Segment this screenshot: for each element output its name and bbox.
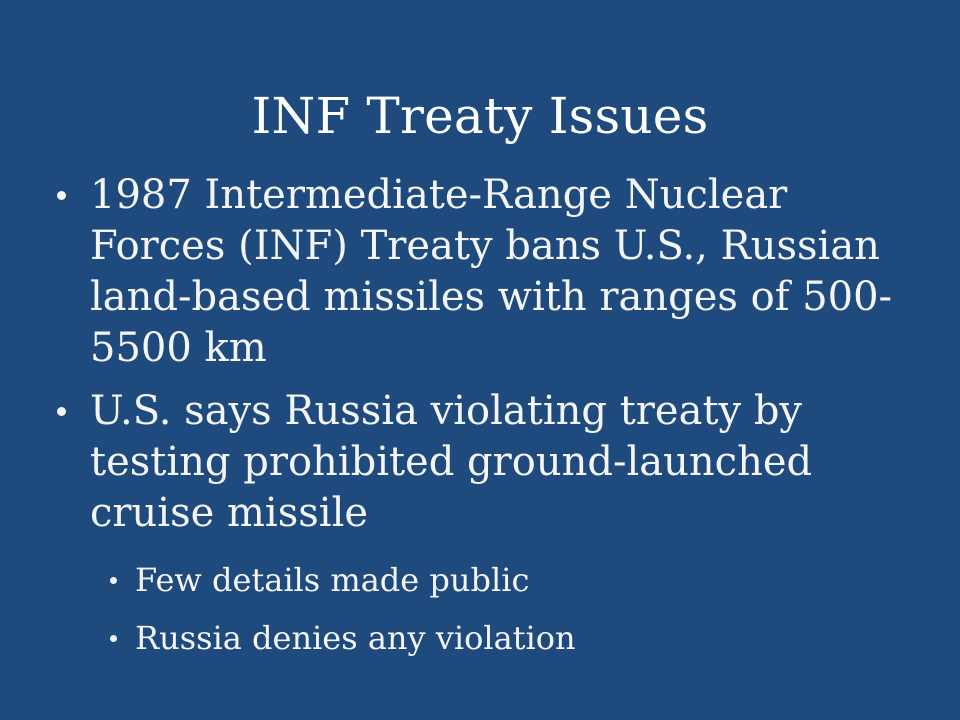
bullet-dot-icon [110,635,117,642]
sub-bullet-group: Few details made public Russia denies an… [40,559,930,659]
bullet-text: 1987 Intermediate-Range Nuclear Forces (… [90,172,892,371]
bullet-text: Russia denies any violation [135,619,576,657]
bullet-item-level2: Few details made public [40,559,930,601]
bullet-dot-icon [110,577,117,584]
bullet-dot-icon [57,407,66,416]
presentation-slide: INF Treaty Issues 1987 Intermediate-Rang… [0,0,960,720]
bullet-item-level1: 1987 Intermediate-Range Nuclear Forces (… [40,170,930,374]
bullet-text: Few details made public [135,561,529,599]
bullet-item-level2: Russia denies any violation [40,617,930,659]
bullet-item-level1: U.S. says Russia violating treaty by tes… [40,386,930,539]
page-title: INF Treaty Issues [0,86,960,146]
bullet-dot-icon [57,191,66,200]
bullet-text: U.S. says Russia violating treaty by tes… [90,388,812,536]
slide-body: 1987 Intermediate-Range Nuclear Forces (… [40,170,930,659]
